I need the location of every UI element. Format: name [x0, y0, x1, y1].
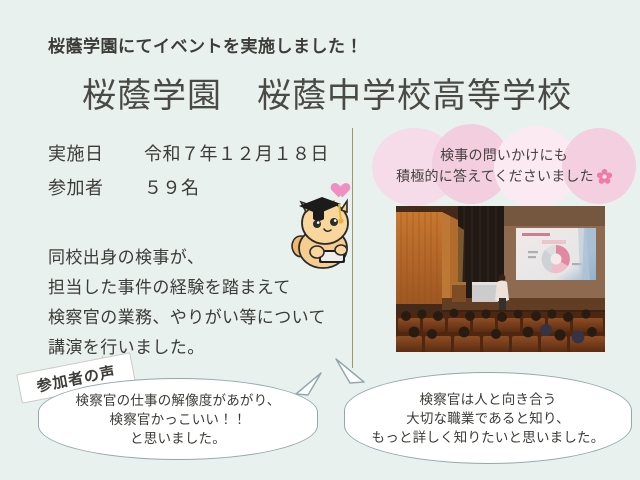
body-line: 担当した事件の経験を踏まえて: [48, 273, 291, 298]
poster-canvas: 桜蔭学園にてイベントを実施しました！ 桜蔭学園 桜蔭中学校高等学校 実施日令和７…: [0, 0, 640, 480]
page-kicker: 桜蔭学園にてイベントを実施しました！: [48, 32, 363, 57]
body-line: 同校出身の検事が、: [48, 243, 204, 268]
sakura-icon: [597, 169, 612, 184]
bubble-left-text: 検察官の仕事の解像度があがり、 検察官かっこいい！！ と思いました。: [39, 379, 317, 459]
bubble-line: と思いました。: [130, 429, 226, 448]
photo-caption: 検事の問いかけにも 積極的に答えてくださいました: [372, 145, 636, 187]
detail-row-attendees: 参加者５９名: [48, 174, 200, 200]
bubble-line: 検察官かっこいい！！: [110, 410, 247, 429]
detail-value-date: 令和７年１２月１８日: [144, 144, 329, 164]
bubble-line: もっと詳しく知りたいと思いました。: [372, 428, 605, 447]
detail-label-attendees: 参加者: [48, 174, 144, 200]
graduate-cat-mascot: [289, 190, 359, 272]
photo-caption-line2-wrap: 積極的に答えてくださいました: [372, 166, 636, 187]
lecture-hall-photo: [396, 206, 605, 352]
bubble-right-text: 検察官は人と向き合う 大切な職業であると知り、 もっと詳しく知りたいと思いました…: [345, 373, 631, 463]
bubble-right: 検察官は人と向き合う 大切な職業であると知り、 もっと詳しく知りたいと思いました…: [344, 372, 632, 464]
detail-label-date: 実施日: [48, 140, 144, 166]
bubble-line: 検察官は人と向き合う: [420, 390, 557, 409]
photo-caption-line: 積極的に答えてくださいました: [396, 168, 594, 184]
page-title: 桜蔭学園 桜蔭中学校高等学校: [82, 68, 572, 117]
body-line: 検察官の業務、やりがい等について: [48, 303, 326, 328]
detail-row-date: 実施日令和７年１２月１８日: [48, 140, 329, 166]
photo-caption-line: 検事の問いかけにも: [372, 145, 636, 166]
bubble-line: 検察官の仕事の解像度があがり、: [76, 391, 281, 410]
detail-value-attendees: ５９名: [144, 178, 200, 198]
bubble-line: 大切な職業であると知り、: [406, 409, 570, 428]
bubble-left: 検察官の仕事の解像度があがり、 検察官かっこいい！！ と思いました。: [38, 378, 318, 460]
